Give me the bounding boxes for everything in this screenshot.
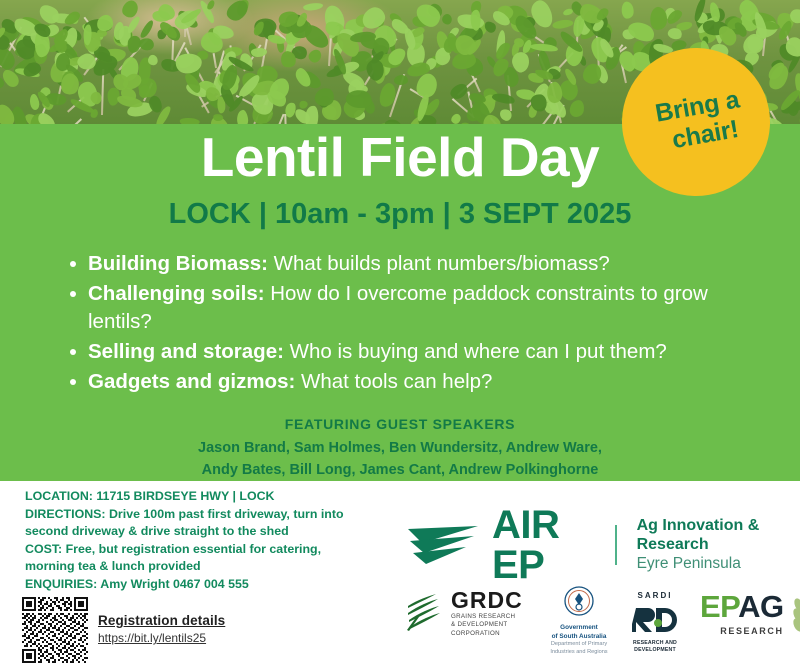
sa-gov-line-2: of South Australia <box>540 633 618 642</box>
topic-rest: What builds plant numbers/biomass? <box>268 252 610 275</box>
grdc-subtext-3: CORPORATION <box>451 630 523 638</box>
air-ep-tagline-line-2: Eyre Peninsula <box>637 555 800 573</box>
topic-lead: Selling and storage: <box>88 340 284 363</box>
directions-line-1: DIRECTIONS: Drive 100m past first drivew… <box>25 506 375 524</box>
epag-text-block: EPAG RESEARCH <box>700 591 784 636</box>
grdc-subtext-2: & DEVELOPMENT <box>451 621 523 629</box>
topic-lead: Building Biomass: <box>88 252 268 275</box>
speakers-heading: FEATURING GUEST SPEAKERS <box>0 416 800 432</box>
sa-government-department: Department of Primary Industries and Reg… <box>540 641 618 656</box>
event-logistics-block: LOCATION: 11715 BIRDSEYE HWY | LOCK DIRE… <box>25 488 375 594</box>
air-ep-tagline: Ag Innovation & Research Eyre Peninsula <box>637 517 800 573</box>
registration-link[interactable]: https://bit.ly/lentils25 <box>98 631 225 645</box>
list-item: Building Biomass: What builds plant numb… <box>64 250 754 277</box>
registration-title[interactable]: Registration details <box>98 613 225 628</box>
cost-line-1: COST: Free, but registration essential f… <box>25 541 375 559</box>
sponsor-logo-grdc: GRDC GRAINS RESEARCH & DEVELOPMENT CORPO… <box>404 589 523 638</box>
epag-wordmark-ag: AG <box>738 589 784 624</box>
topic-rest: Who is buying and where can I put them? <box>284 340 667 363</box>
sardi-subtext-1: RESEARCH AND <box>622 640 688 647</box>
air-ep-wordmark: AIR EP <box>492 505 599 585</box>
epag-wordmark-ep: EP <box>700 589 738 624</box>
event-details-line: LOCK | 10am - 3pm | 3 SEPT 2025 <box>0 198 800 231</box>
epag-research-label: RESEARCH <box>700 626 784 636</box>
grdc-wheat-icon <box>404 589 444 638</box>
registration-block[interactable]: Registration details https://bit.ly/lent… <box>22 597 225 663</box>
sponsor-logos-row: GRDC GRAINS RESEARCH & DEVELOPMENT CORPO… <box>404 585 794 655</box>
sa-gov-dept-line-2: Industries and Regions <box>540 649 618 657</box>
grdc-subtext-1: GRAINS RESEARCH <box>451 613 523 621</box>
epag-wheat-icon <box>786 591 800 644</box>
sa-gov-line-1: Government <box>540 624 618 633</box>
sardi-subtext-2: DEVELOPMENT <box>622 647 688 654</box>
directions-line-2: second driveway & drive straight to the … <box>25 523 375 541</box>
sponsor-logo-sardi: SARDI RESEARCH AND DEVELOPMENT <box>622 585 688 655</box>
list-item: Gadgets and gizmos: What tools can help? <box>64 368 754 395</box>
grdc-subtext: GRAINS RESEARCH & DEVELOPMENT CORPORATIO… <box>451 613 523 638</box>
grdc-wordmark: GRDC <box>451 587 523 613</box>
sardi-rd-monogram-icon <box>622 605 688 640</box>
sardi-wordmark: SARDI <box>638 591 673 600</box>
speakers-names-line-1: Jason Brand, Sam Holmes, Ben Wundersitz,… <box>0 437 800 459</box>
logo-divider <box>615 525 617 565</box>
air-ep-arrow-mark-icon <box>404 523 482 567</box>
sa-government-crest-icon <box>559 606 599 623</box>
topic-lead: Challenging soils: <box>88 282 265 305</box>
enquiries-line: ENQUIRIES: Amy Wright 0467 004 555 <box>25 576 375 594</box>
qr-code-icon[interactable] <box>22 597 88 663</box>
sa-government-name: Government of South Australia <box>540 624 618 641</box>
sponsor-logo-epag-research: EPAG RESEARCH <box>700 591 800 644</box>
footer-area: LOCATION: 11715 BIRDSEYE HWY | LOCK DIRE… <box>0 481 800 671</box>
sa-gov-dept-line-1: Department of Primary <box>540 641 618 649</box>
grdc-text-block: GRDC GRAINS RESEARCH & DEVELOPMENT CORPO… <box>451 589 523 638</box>
epag-wordmark: EPAG <box>700 589 784 624</box>
air-ep-tagline-line-1: Ag Innovation & Research <box>637 517 800 555</box>
registration-text: Registration details https://bit.ly/lent… <box>98 613 225 647</box>
list-item: Selling and storage: Who is buying and w… <box>64 338 754 365</box>
guest-speakers-block: FEATURING GUEST SPEAKERS Jason Brand, Sa… <box>0 416 800 482</box>
speakers-names-line-2: Andy Bates, Bill Long, James Cant, Andre… <box>0 459 800 481</box>
topic-lead: Gadgets and gizmos: <box>88 370 295 393</box>
topics-list: Building Biomass: What builds plant numb… <box>64 250 754 398</box>
sardi-subtext: RESEARCH AND DEVELOPMENT <box>622 640 688 655</box>
sponsor-logo-sa-government: Government of South Australia Department… <box>540 585 618 656</box>
location-line: LOCATION: 11715 BIRDSEYE HWY | LOCK <box>25 488 375 506</box>
topic-rest: What tools can help? <box>295 370 492 393</box>
cost-line-2: morning tea & lunch provided <box>25 558 375 576</box>
air-ep-logo: AIR EP Ag Innovation & Research Eyre Pen… <box>404 505 800 585</box>
list-item: Challenging soils: How do I overcome pad… <box>64 280 754 335</box>
